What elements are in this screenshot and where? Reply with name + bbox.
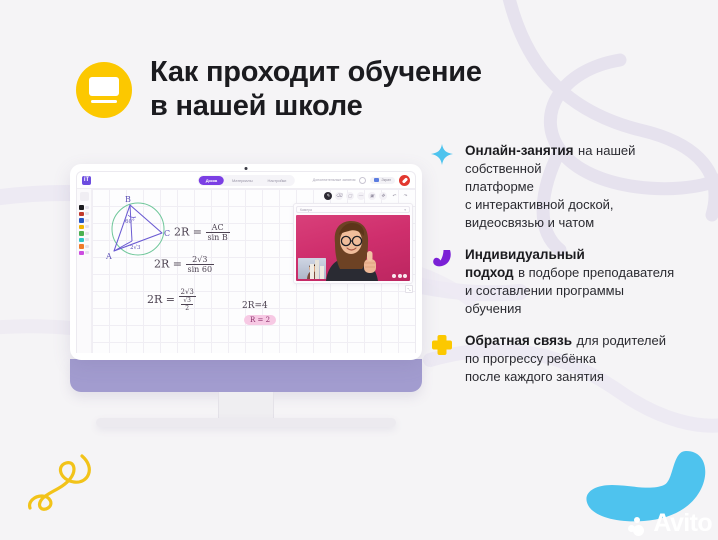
swatch-blue[interactable] (79, 218, 84, 223)
palette-swatch-row[interactable] (79, 205, 89, 210)
svg-text:60°: 60° (125, 219, 135, 225)
yellow-squiggle-decoration (22, 452, 102, 519)
lock-icon[interactable] (80, 192, 89, 201)
answer-highlight: R = 2 (244, 315, 276, 325)
svg-text:C: C (164, 229, 170, 238)
feature-item-feedback: Обратная связь для родителей по прогресс… (430, 332, 710, 386)
formula-step-3: 2R = 2√3√32 (147, 288, 196, 312)
swatch-green[interactable] (79, 231, 84, 236)
app-topbar: iT Доска Материалы Настройки Дополнитель… (77, 172, 415, 189)
tab-settings[interactable]: Настройки (261, 176, 294, 185)
palette-swatch-row[interactable] (79, 251, 89, 256)
svg-text:A: A (105, 252, 112, 261)
drawing-toolbar[interactable]: ✎ ⌫ ▢ ― ▣ ✥ ↶ ↷ (324, 192, 409, 200)
swatch-red[interactable] (79, 212, 84, 217)
feature-item-individual-approach: Индивидуальный подход в подборе преподав… (430, 246, 710, 318)
avito-wordmark: Avito (653, 511, 712, 536)
swatch-yellow[interactable] (79, 225, 84, 230)
feature-title: Обратная связь (465, 333, 572, 348)
header-badge (76, 62, 132, 118)
swatch-meta (85, 212, 90, 215)
app-body: B A C 60° 2√3 2R = ACsin B 2R = 2√3sin 6… (77, 189, 415, 353)
tab-materials[interactable]: Материалы (225, 176, 260, 185)
formula-step-2: 2R = 2√3sin 60 (154, 255, 214, 274)
video-call-panel: ✎ ⌫ ▢ ― ▣ ✥ ↶ ↷ Камера ▾ (293, 203, 413, 284)
shapes-tool-icon[interactable]: ▢ (346, 192, 354, 200)
camera-source-label: Камера (300, 208, 312, 212)
swatch-meta (85, 206, 90, 209)
palette-swatch-row[interactable] (79, 244, 89, 249)
app-logo-icon: iT (82, 176, 91, 185)
color-palette-rail[interactable] (77, 189, 92, 353)
palette-swatch-row[interactable] (79, 218, 89, 223)
avito-dots-icon (628, 513, 650, 535)
teacher-avatar (318, 219, 388, 281)
feature-title: Онлайн-занятия (465, 143, 574, 158)
swatch-magenta[interactable] (79, 251, 84, 256)
monitor-stand-base (96, 418, 396, 427)
monitor-icon (89, 77, 119, 103)
svg-text:2√3: 2√3 (130, 244, 141, 251)
teacher-video-feed[interactable] (296, 215, 410, 281)
star-icon (430, 142, 454, 232)
monitor-screen: iT Доска Материалы Настройки Дополнитель… (76, 171, 416, 353)
palette-swatch-row[interactable] (79, 212, 89, 217)
swatch-meta (85, 238, 90, 241)
line-tool-icon[interactable]: ― (357, 192, 365, 200)
palette-swatch-row[interactable] (79, 238, 89, 243)
swatch-meta (85, 225, 90, 228)
undo-tool-icon[interactable]: ↶ (390, 192, 398, 200)
swatch-meta (85, 245, 90, 248)
app-topbar-right: Дополнительные занятия Экран (313, 175, 410, 186)
camera-source-select[interactable]: Камера ▾ (296, 206, 410, 213)
crescent-icon (430, 246, 454, 318)
monitor-stand (218, 392, 274, 418)
more-dots-icon[interactable] (392, 274, 407, 278)
gear-icon[interactable] (359, 177, 366, 184)
swatch-meta (85, 219, 90, 222)
swatch-black[interactable] (79, 205, 84, 210)
resize-handle-icon[interactable]: ⤡ (405, 285, 413, 293)
feature-item-online-lessons: Онлайн-занятия на нашей собственной плат… (430, 142, 710, 232)
monitor-device: iT Доска Материалы Настройки Дополнитель… (70, 164, 422, 427)
image-tool-icon[interactable]: ▣ (368, 192, 376, 200)
move-tool-icon[interactable]: ✥ (379, 192, 387, 200)
share-screen-label: Экран (381, 178, 391, 182)
video-card: Камера ▾ (293, 203, 413, 284)
page-header: Как проходит обучение в нашей школе (76, 55, 482, 123)
student-pip-video[interactable] (298, 258, 326, 279)
swatch-orange[interactable] (79, 244, 84, 249)
poster-root: Как проходит обучение в нашей школе iT Д… (0, 0, 718, 540)
screen-icon (374, 178, 379, 182)
swatch-meta (85, 232, 90, 235)
end-call-button[interactable] (399, 175, 410, 186)
formula-step-1: 2R = ACsin B (174, 223, 230, 242)
svg-text:B: B (125, 195, 131, 204)
formula-step-4: 2R=4 (242, 301, 268, 311)
page-title: Как проходит обучение в нашей школе (150, 55, 482, 123)
phone-hangup-icon (401, 177, 407, 183)
eraser-tool-icon[interactable]: ⌫ (335, 192, 343, 200)
share-screen-button[interactable]: Экран (370, 177, 395, 184)
redo-tool-icon[interactable]: ↷ (401, 192, 409, 200)
plus-icon (430, 332, 454, 386)
palette-swatch-row[interactable] (79, 225, 89, 230)
swatch-cyan[interactable] (79, 238, 84, 243)
swatch-meta (85, 251, 90, 254)
tab-board[interactable]: Доска (199, 176, 224, 185)
avito-watermark: Avito (628, 511, 712, 536)
palette-swatch-row[interactable] (79, 231, 89, 236)
pip-objects (309, 258, 325, 279)
chevron-down-icon: ▾ (404, 208, 406, 212)
pen-tool-icon[interactable]: ✎ (324, 192, 332, 200)
monitor-chin (70, 359, 422, 392)
feature-list: Онлайн-занятия на нашей собственной плат… (430, 142, 710, 400)
app-tabs[interactable]: Доска Материалы Настройки (198, 175, 295, 186)
webcam-icon (245, 167, 248, 170)
monitor-bezel: iT Доска Материалы Настройки Дополнитель… (70, 164, 422, 360)
lesson-label: Дополнительные занятия (313, 178, 356, 182)
